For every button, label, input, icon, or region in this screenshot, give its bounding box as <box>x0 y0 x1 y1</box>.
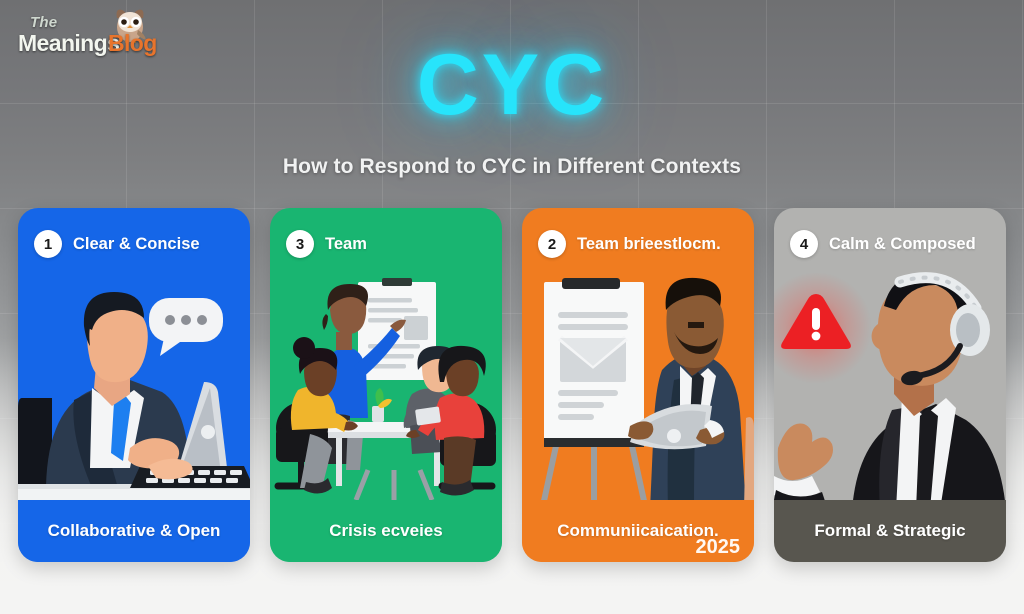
card-header: 1 Clear & Concise <box>34 228 240 260</box>
context-card-3[interactable]: 2 Team brieestlocm. <box>522 208 754 562</box>
infographic-canvas: The Meanings Blog CYC How to Respond to … <box>0 0 1024 614</box>
card-title: Team <box>325 235 367 254</box>
card-title: Team brieestlocm. <box>577 235 721 254</box>
illustration-team-meeting <box>270 270 502 510</box>
card-badge: 2 <box>538 230 566 258</box>
card-header: 4 Calm & Composed <box>790 228 996 260</box>
illustration-presenter-with-email-board <box>522 270 754 510</box>
card-footer: Formal & Strategic <box>774 500 1006 562</box>
context-card-2[interactable]: 3 Team <box>270 208 502 562</box>
card-title: Calm & Composed <box>829 235 976 254</box>
illustration-man-at-laptop <box>18 270 250 510</box>
card-badge: 4 <box>790 230 818 258</box>
card-footer: Crisis ecveies <box>270 500 502 562</box>
illustration-headset-agent <box>774 270 1006 510</box>
card-badge: 3 <box>286 230 314 258</box>
card-header: 2 Team brieestlocm. <box>538 228 744 260</box>
logo-text-the: The <box>30 14 57 31</box>
year-stamp: 2025 <box>696 536 741 559</box>
context-card-4[interactable]: 4 Calm & Composed <box>774 208 1006 562</box>
context-card-1[interactable]: 1 Clear & Concise <box>18 208 250 562</box>
card-badge: 1 <box>34 230 62 258</box>
page-subtitle: How to Respond to CYC in Different Conte… <box>0 155 1024 179</box>
card-title: Clear & Concise <box>73 235 200 254</box>
card-footer: Collaborative & Open <box>18 500 250 562</box>
page-title: CYC <box>0 36 1024 135</box>
card-header: 3 Team <box>286 228 492 260</box>
